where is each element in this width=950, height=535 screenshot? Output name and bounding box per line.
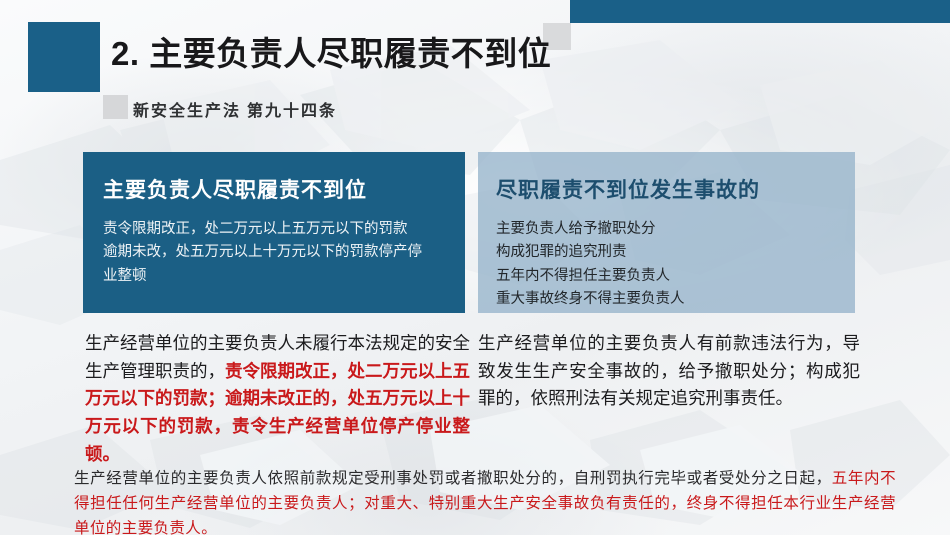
callout-box-left: 主要负责人尽职履责不到位 责令限期改正，处二万元以上五万元以下的罚款 逾期未改，…	[83, 152, 465, 313]
header-gray-square-decoration-left	[103, 95, 128, 119]
callout-left-line: 责令限期改正，处二万元以上五万元以下的罚款	[103, 218, 445, 241]
callout-right-line: 构成犯罪的追究刑责	[496, 241, 835, 264]
callout-right-line: 五年内不得担任主要负责人	[496, 265, 835, 288]
footer-legal-text: 生产经营单位的主要负责人依照前款规定受刑事处罚或者撤职处分的，自刑罚执行完毕或者…	[74, 466, 896, 535]
callout-box-left-title: 主要负责人尽职履责不到位	[103, 174, 445, 204]
callout-right-line: 重大事故终身不得主要负责人	[496, 288, 835, 311]
header-blue-square-decoration	[28, 22, 100, 92]
callout-left-line: 业整顿	[103, 265, 445, 288]
body-column-right: 生产经营单位的主要负责人有前款违法行为，导致发生生产安全事故的，给予撤职处分；构…	[478, 330, 860, 413]
body-paragraph-left: 生产经营单位的主要负责人未履行本法规定的安全生产管理职责的，责令限期改正，处二万…	[85, 330, 470, 468]
callout-box-left-body: 责令限期改正，处二万元以上五万元以下的罚款 逾期未改，处五万元以上十万元以下的罚…	[103, 218, 445, 288]
page-title: 2. 主要负责人尽职履责不到位	[111, 27, 551, 75]
body-paragraph-right-normal: 生产经营单位的主要负责人有前款违法行为，导致发生生产安全事故的，给予撤职处分；构…	[478, 333, 860, 408]
header-top-blue-bar-decoration	[570, 0, 950, 23]
callout-box-right: 尽职履责不到位发生事故的 主要负责人给予撤职处分 构成犯罪的追究刑责 五年内不得…	[478, 152, 855, 313]
page-subtitle: 新安全生产法 第九十四条	[133, 97, 337, 121]
footer-normal: 生产经营单位的主要负责人依照前款规定受刑事处罚或者撤职处分的，自刑罚执行完毕或者…	[74, 470, 832, 487]
callout-box-right-title: 尽职履责不到位发生事故的	[496, 174, 835, 204]
callout-left-line: 逾期未改，处五万元以上十万元以下的罚款停产停	[103, 241, 445, 264]
callout-right-line: 主要负责人给予撤职处分	[496, 218, 835, 241]
body-column-left: 生产经营单位的主要负责人未履行本法规定的安全生产管理职责的，责令限期改正，处二万…	[85, 330, 470, 468]
slide-canvas: 2. 主要负责人尽职履责不到位 新安全生产法 第九十四条 主要负责人尽职履责不到…	[0, 0, 950, 535]
body-paragraph-right: 生产经营单位的主要负责人有前款违法行为，导致发生生产安全事故的，给予撤职处分；构…	[478, 330, 860, 413]
callout-box-right-body: 主要负责人给予撤职处分 构成犯罪的追究刑责 五年内不得担任主要负责人 重大事故终…	[496, 218, 835, 312]
